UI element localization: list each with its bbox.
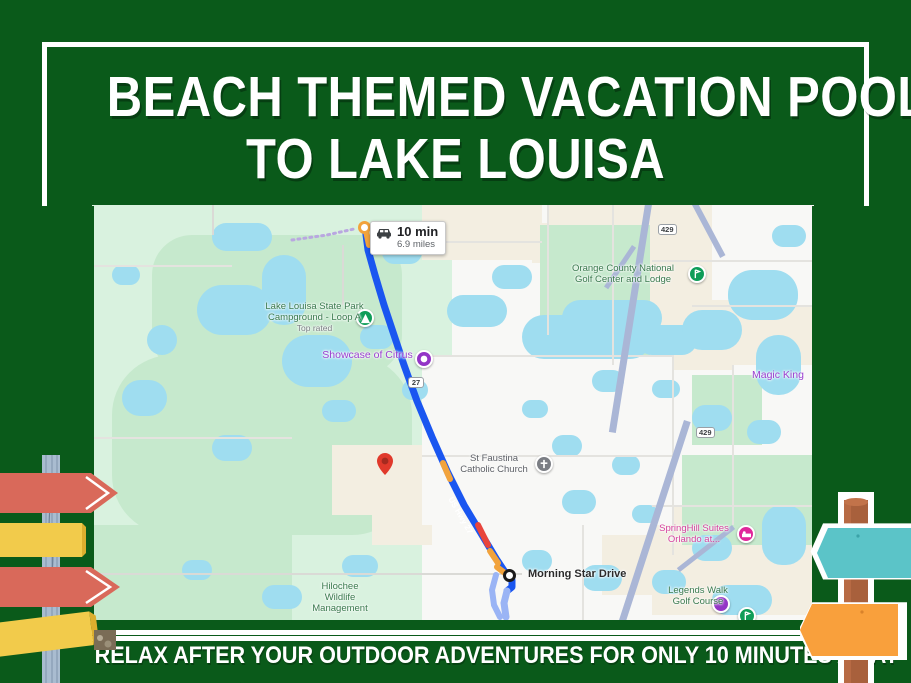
route-map[interactable]: 10 min 6.9 miles 27 429 429 Lake Louisa … (92, 205, 814, 620)
red-map-pin[interactable] (377, 453, 393, 475)
springhill-suites-label: SpringHill Suites Orlando at... (652, 523, 736, 545)
route-polyline (92, 205, 814, 620)
caption-text: RELAX AFTER YOUR OUTDOOR ADVENTURES FOR … (95, 642, 899, 670)
showcase-of-citrus-label: Showcase of Citrus (320, 350, 415, 361)
decorative-signpost-right (800, 492, 911, 683)
travel-duration: 10 min (397, 225, 438, 239)
st-faustina-church-label: St Faustina Catholic Church (454, 453, 534, 475)
route-shield-429-north: 429 (658, 224, 677, 235)
footer-caption: RELAX AFTER YOUR OUTDOOR ADVENTURES FOR … (50, 642, 861, 670)
st-faustina-church-badge[interactable] (535, 455, 553, 473)
page-title: BEACH THEMED VACATION POOL HOME TO LAKE … (50, 66, 861, 190)
orange-county-golf-label: Orange County National Golf Center and L… (558, 263, 688, 285)
magic-kingdom-label: Magic King (752, 370, 804, 381)
decorative-signpost-left (0, 455, 131, 683)
caption-divider (47, 630, 848, 635)
legends-walk-golf-label: Legends Walk Golf Course (662, 585, 734, 607)
lake-louisa-campground-label: Lake Louisa State Park Campground - Loop… (227, 301, 402, 334)
title-line-1: BEACH THEMED VACATION POOL HOME (107, 66, 804, 128)
route-shield-429-south: 429 (696, 427, 715, 438)
showcase-of-citrus-badge[interactable] (415, 350, 433, 368)
route-shield-27: 27 (408, 377, 424, 388)
springhill-suites-badge[interactable] (737, 525, 755, 543)
travel-distance: 6.9 miles (397, 239, 438, 250)
route-end-marker[interactable] (503, 569, 516, 582)
hilochee-wildlife-label: Hilochee Wildlife Management (300, 581, 380, 614)
legends-walk-golf-badge[interactable] (738, 607, 756, 620)
destination-street-label: Morning Star Drive (528, 569, 626, 580)
orange-county-golf-badge[interactable] (688, 265, 706, 283)
travel-time-callout[interactable]: 10 min 6.9 miles (370, 221, 446, 255)
car-icon (376, 226, 392, 240)
title-line-2: TO LAKE LOUISA (107, 128, 804, 190)
